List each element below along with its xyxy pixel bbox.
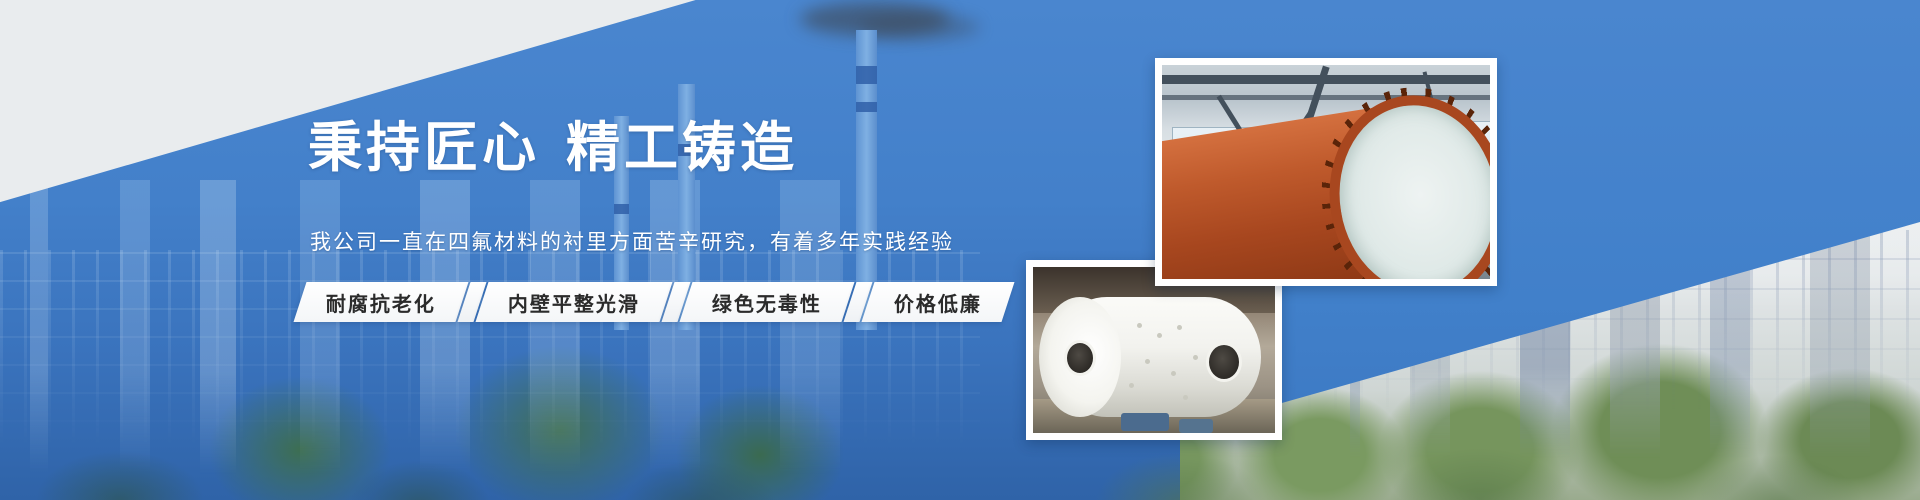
feature-tag-4-label: 价格低廉 xyxy=(894,288,982,317)
hero-banner: 秉持匠心精工铸造 我公司一直在四氟材料的衬里方面苦辛研究，有着多年实践经验 耐腐… xyxy=(0,0,1920,500)
page-title: 秉持匠心精工铸造 xyxy=(308,119,798,177)
feature-tag-2-label: 内壁平整光滑 xyxy=(508,288,640,317)
feature-tag-1-label: 耐腐抗老化 xyxy=(326,288,436,317)
headline-part-1: 秉持匠心 xyxy=(308,118,540,178)
white-vessel-photo-inner xyxy=(1033,267,1275,433)
vessel-nozzle-left xyxy=(1067,343,1093,373)
feature-tag-2[interactable]: 内壁平整光滑 xyxy=(476,282,673,322)
feature-tag-1[interactable]: 耐腐抗老化 xyxy=(294,282,469,322)
feature-tag-4[interactable]: 价格低廉 xyxy=(862,282,1015,322)
subtitle: 我公司一直在四氟材料的衬里方面苦辛研究，有着多年实践经验 xyxy=(310,226,954,256)
vessel-nozzle-right xyxy=(1209,345,1239,379)
lined-tank-photo[interactable] xyxy=(1155,58,1497,286)
headline-part-2: 精工铸造 xyxy=(566,118,798,178)
feature-tag-3-label: 绿色无毒性 xyxy=(712,288,822,317)
feature-tag-list: 耐腐抗老化 内壁平整光滑 绿色无毒性 价格低廉 xyxy=(300,282,1010,322)
white-vessel-photo[interactable] xyxy=(1026,260,1282,440)
feature-tag-3[interactable]: 绿色无毒性 xyxy=(680,282,855,322)
lined-tank-photo-inner xyxy=(1162,65,1490,279)
copy-block: 秉持匠心精工铸造 我公司一直在四氟材料的衬里方面苦辛研究，有着多年实践经验 耐腐… xyxy=(0,0,960,500)
